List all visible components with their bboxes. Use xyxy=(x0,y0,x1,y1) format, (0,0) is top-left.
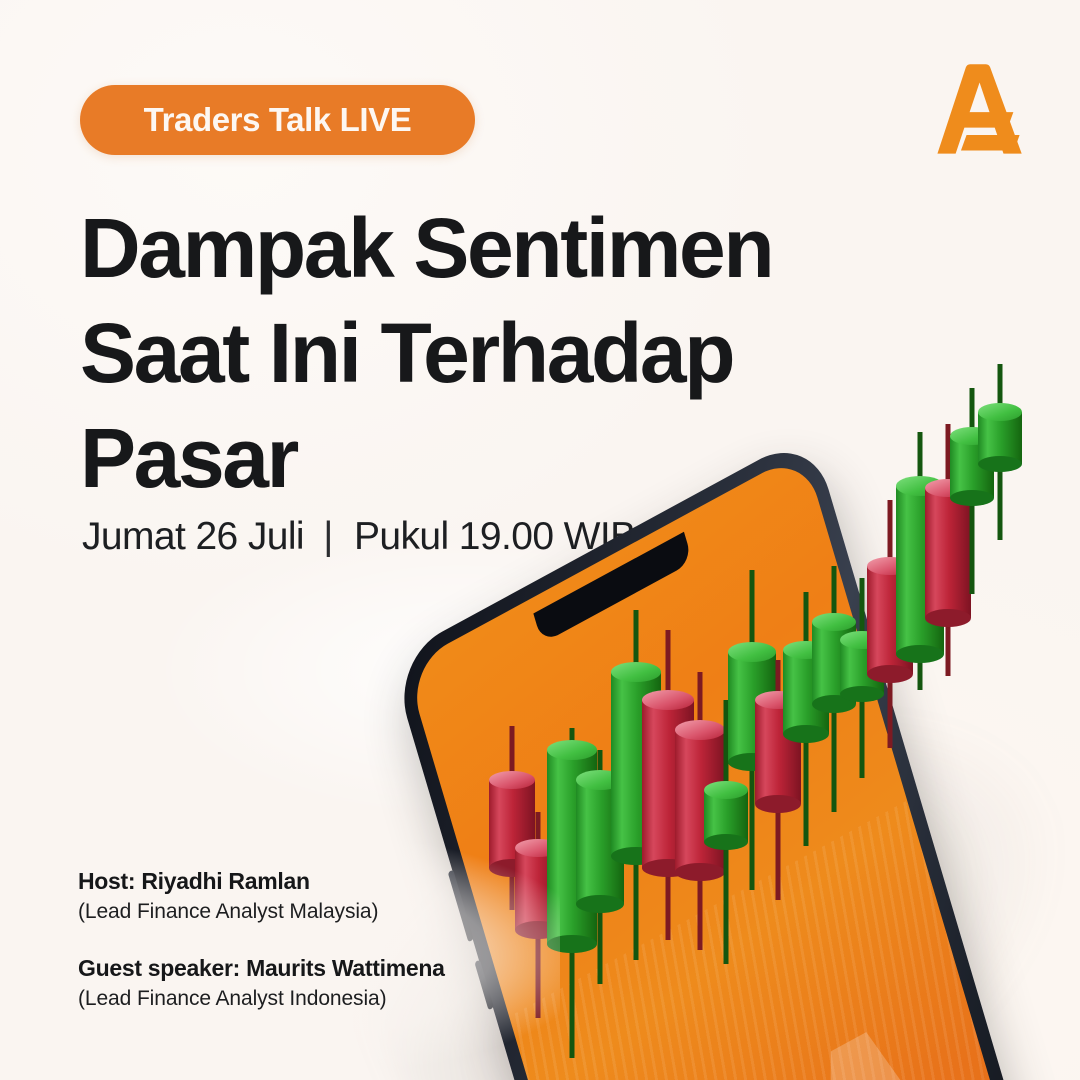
candle-17 xyxy=(950,388,994,594)
schedule-date: Jumat 26 Juli xyxy=(82,515,304,558)
credit-host-role: (Lead Finance Analyst Malaysia) xyxy=(78,897,445,927)
brand-logo-a-icon xyxy=(924,58,1032,162)
credits-block: Host: Riyadhi Ramlan (Lead Finance Analy… xyxy=(78,866,445,1014)
schedule-line: Jumat 26 Juli | Pukul 19.00 WIB xyxy=(82,515,636,559)
headline-line-1: Dampak Sentimen xyxy=(80,196,840,301)
headline-line-2: Saat Ini Terhadap xyxy=(80,301,840,406)
credit-guest-name: Guest speaker: Maurits Wattimena xyxy=(78,953,445,984)
credit-guest: Guest speaker: Maurits Wattimena (Lead F… xyxy=(78,953,445,1014)
live-badge-label: Traders Talk LIVE xyxy=(144,101,412,139)
candle-18 xyxy=(978,364,1022,540)
live-badge[interactable]: Traders Talk LIVE xyxy=(80,85,475,155)
credit-host: Host: Riyadhi Ramlan (Lead Finance Analy… xyxy=(78,866,445,927)
credit-host-name: Host: Riyadhi Ramlan xyxy=(78,866,445,897)
credit-guest-role: (Lead Finance Analyst Indonesia) xyxy=(78,984,445,1014)
page-title: Dampak Sentimen Saat Ini Terhadap Pasar xyxy=(80,196,840,511)
schedule-separator: | xyxy=(323,515,333,559)
poster-canvas: Traders Talk LIVE Dampak Sentimen Saat I… xyxy=(0,0,1080,1080)
